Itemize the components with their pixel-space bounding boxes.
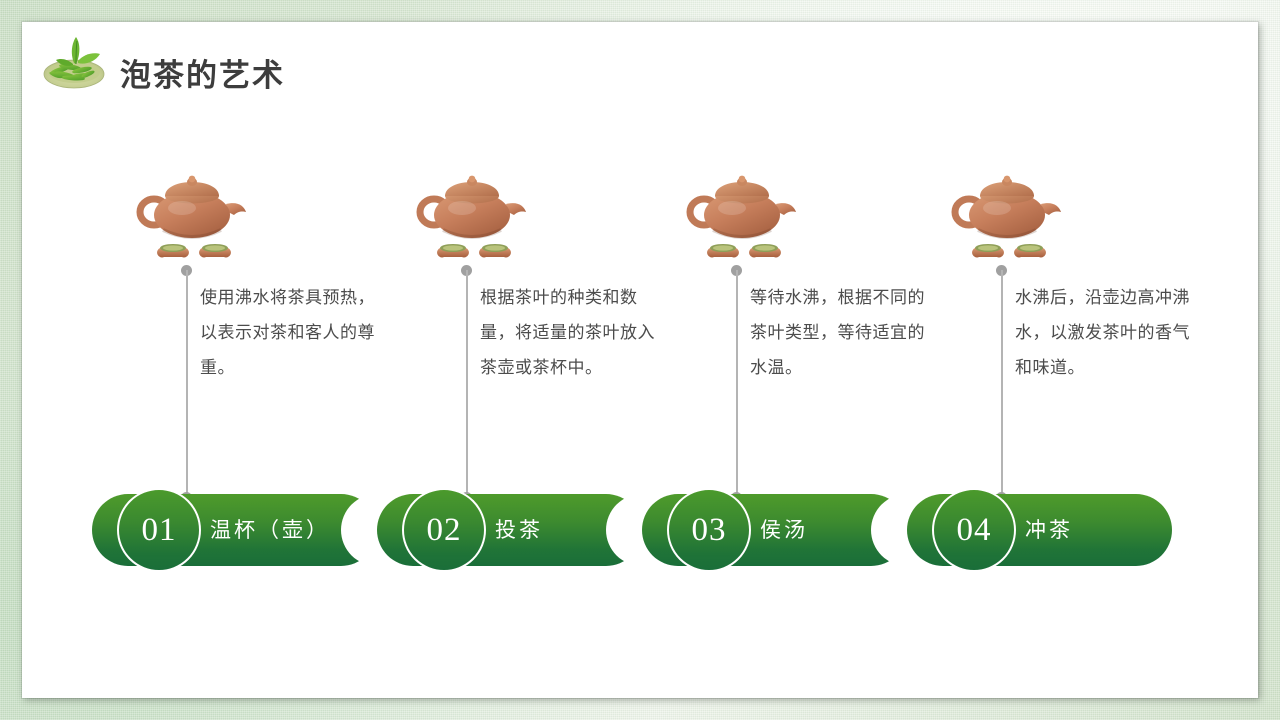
- slide-content-card: 泡茶的艺术: [22, 22, 1258, 698]
- teapot-icon: [410, 170, 534, 262]
- connector-line: [186, 270, 188, 502]
- connector-line: [736, 270, 738, 502]
- step-banner-label: 投茶: [495, 494, 543, 566]
- step-03: 等待水沸，根据不同的茶叶类型，等待适宜的水温。: [672, 22, 972, 698]
- connector-line: [466, 270, 468, 502]
- teapot-icon: [130, 170, 254, 262]
- step-04: 水沸后，沿壶边高冲沸水，以激发茶叶的香气和味道。: [937, 22, 1237, 698]
- step-banner-row: 温杯（壶） 投茶 侯汤 冲茶 01 02 03 04: [22, 494, 1258, 566]
- step-description: 使用沸水将茶具预热，以表示对茶和客人的尊重。: [200, 280, 378, 385]
- teapot-icon: [945, 170, 1069, 262]
- steps-container: 使用沸水将茶具预热，以表示对茶和客人的尊重。: [22, 22, 1258, 698]
- step-number-04[interactable]: 04: [932, 488, 1016, 572]
- step-01: 使用沸水将茶具预热，以表示对茶和客人的尊重。: [122, 22, 422, 698]
- step-02: 根据茶叶的种类和数量，将适量的茶叶放入茶壶或茶杯中。: [407, 22, 707, 698]
- step-description: 根据茶叶的种类和数量，将适量的茶叶放入茶壶或茶杯中。: [480, 280, 658, 385]
- teapot-icon: [680, 170, 804, 262]
- step-description: 水沸后，沿壶边高冲沸水，以激发茶叶的香气和味道。: [1015, 280, 1193, 385]
- step-number-03[interactable]: 03: [667, 488, 751, 572]
- step-number-01[interactable]: 01: [117, 488, 201, 572]
- step-banner-label: 侯汤: [760, 494, 808, 566]
- step-number-02[interactable]: 02: [402, 488, 486, 572]
- connector-line: [1001, 270, 1003, 502]
- step-banner-label: 温杯（壶）: [210, 494, 330, 566]
- step-description: 等待水沸，根据不同的茶叶类型，等待适宜的水温。: [750, 280, 928, 385]
- step-banner-label: 冲茶: [1025, 494, 1073, 566]
- slide-canvas: 泡茶的艺术: [0, 0, 1280, 720]
